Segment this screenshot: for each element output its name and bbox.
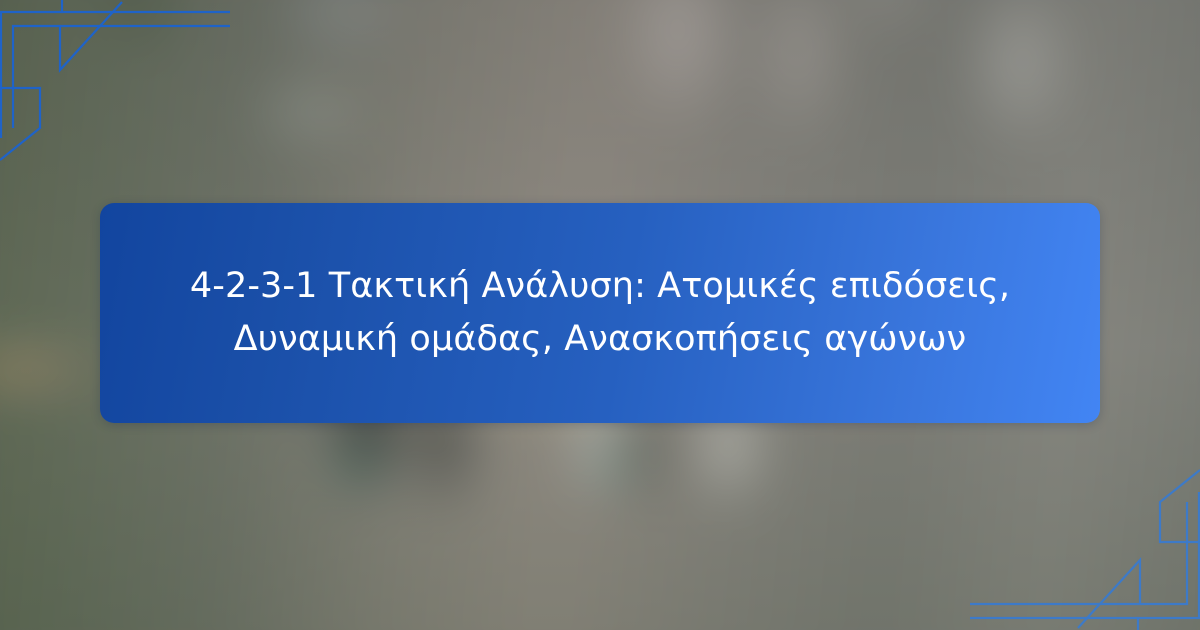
headline-card: 4-2-3-1 Τακτική Ανάλυση: Ατομικές επιδόσ… [100,203,1100,423]
social-card-canvas: 4-2-3-1 Τακτική Ανάλυση: Ατομικές επιδόσ… [0,0,1200,630]
headline-title: 4-2-3-1 Τακτική Ανάλυση: Ατομικές επιδόσ… [146,260,1054,366]
